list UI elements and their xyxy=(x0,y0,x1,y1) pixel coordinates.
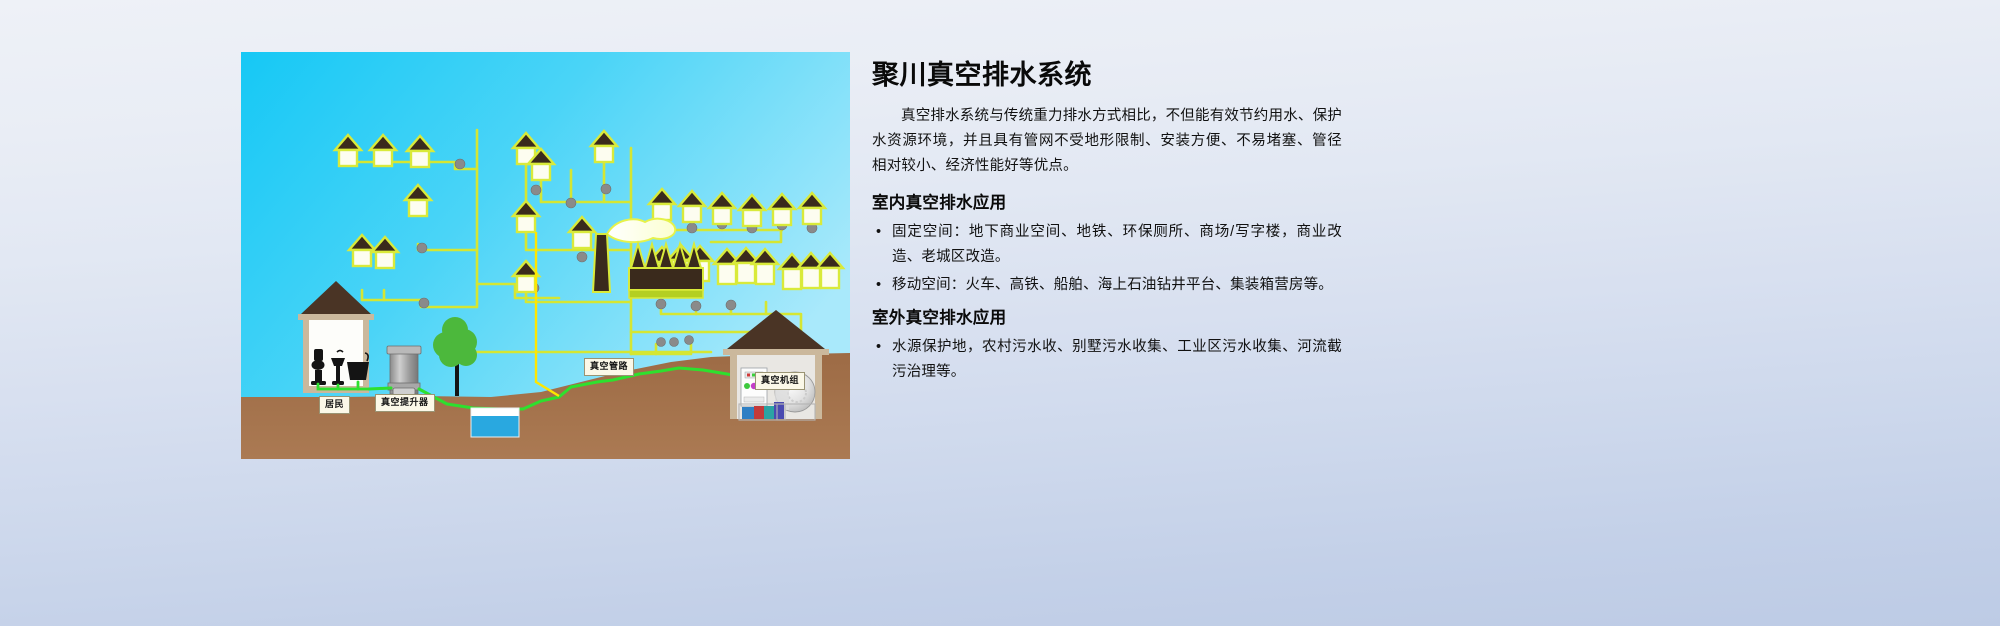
list-item-text: 固定空间：地下商业空间、地铁、环保厕所、商场/写字楼，商业改造、老城区改造。 xyxy=(892,224,1342,265)
bullet-marker-icon: • xyxy=(876,335,881,360)
intro-paragraph: 真空排水系统与传统重力排水方式相比，不但能有效节约用水、保护水资源环境，并且具有… xyxy=(872,104,1342,179)
bullet-marker-icon: • xyxy=(876,220,881,245)
list-item: • 移动空间：火车、高铁、船舶、海上石油钻井平台、集装箱营房等。 xyxy=(872,273,1342,298)
system-diagram: 居民 真空提升器 真空管路 真空机组 xyxy=(241,52,850,459)
page-title: 聚川真空排水系统 xyxy=(872,60,1342,91)
content-column: 聚川真空排水系统 真空排水系统与传统重力排水方式相比，不但能有效节约用水、保护水… xyxy=(872,60,1342,394)
bullet-marker-icon: • xyxy=(876,273,881,298)
indoor-application-list: • 固定空间：地下商业空间、地铁、环保厕所、商场/写字楼，商业改造、老城区改造。… xyxy=(872,220,1342,298)
section-heading-indoor: 室内真空排水应用 xyxy=(872,192,1342,215)
outdoor-application-list: • 水源保护地，农村污水收、别墅污水收集、工业区污水收集、河流截污治理等。 xyxy=(872,335,1342,385)
label-vacuum-unit: 真空机组 xyxy=(755,372,805,390)
poster-page: 居民 真空提升器 真空管路 真空机组 聚川真空排水系统 真空排水系统与传统重力排… xyxy=(0,0,2000,626)
label-vacuum-lift: 真空提升器 xyxy=(375,394,435,412)
diagram-canvas: 居民 真空提升器 真空管路 真空机组 xyxy=(241,52,850,459)
section-heading-outdoor: 室外真空排水应用 xyxy=(872,307,1342,330)
list-item-text: 移动空间：火车、高铁、船舶、海上石油钻井平台、集装箱营房等。 xyxy=(892,277,1333,293)
collection-basin xyxy=(471,408,519,437)
list-item: • 固定空间：地下商业空间、地铁、环保厕所、商场/写字楼，商业改造、老城区改造。 xyxy=(872,220,1342,270)
label-resident: 居民 xyxy=(319,396,350,414)
label-vacuum-pipeline: 真空管路 xyxy=(584,358,634,376)
list-item: • 水源保护地，农村污水收、别墅污水收集、工业区污水收集、河流截污治理等。 xyxy=(872,335,1342,385)
list-item-text: 水源保护地，农村污水收、别墅污水收集、工业区污水收集、河流截污治理等。 xyxy=(892,339,1342,380)
